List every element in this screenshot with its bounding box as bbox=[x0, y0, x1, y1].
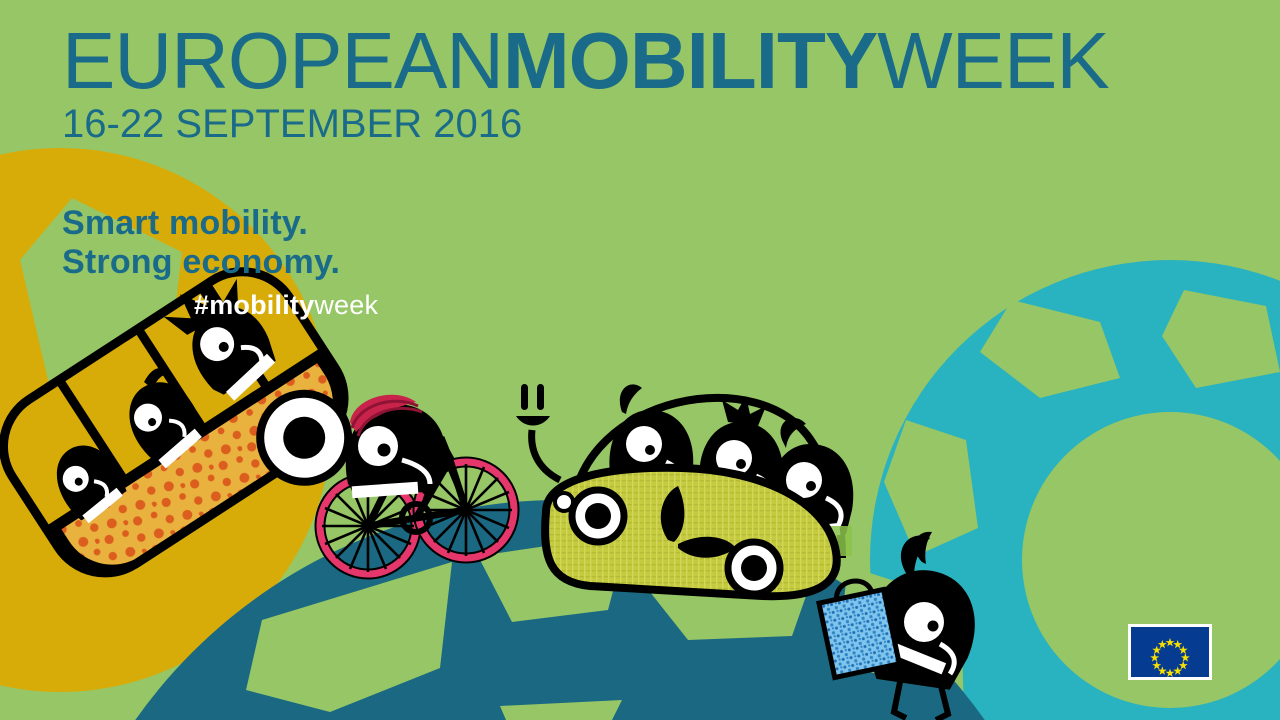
title-european: EUROPEAN bbox=[62, 16, 503, 105]
poster-dates: 16-22 SEPTEMBER 2016 bbox=[62, 104, 1109, 144]
european-union-flag bbox=[1128, 624, 1212, 680]
poster-tagline: Smart mobility. Strong economy. #mobilit… bbox=[62, 204, 378, 320]
title-week: WEEK bbox=[877, 16, 1109, 105]
tagline-line-2: Strong economy. bbox=[62, 243, 378, 282]
campaign-hashtag: #mobilityweek bbox=[62, 290, 378, 321]
tagline-line-1: Smart mobility. bbox=[62, 204, 378, 243]
hashtag-bold-part: #mobility bbox=[194, 290, 314, 320]
eu-flag-field bbox=[1131, 627, 1209, 677]
hashtag-regular-part: week bbox=[314, 290, 378, 320]
mobility-week-poster: EUROPEANMOBILITYWEEK 16-22 SEPTEMBER 201… bbox=[0, 0, 1280, 720]
poster-headline: EUROPEANMOBILITYWEEK 16-22 SEPTEMBER 201… bbox=[62, 22, 1109, 144]
title-mobility: MOBILITY bbox=[503, 16, 877, 105]
eu-stars-circle bbox=[1131, 627, 1209, 677]
